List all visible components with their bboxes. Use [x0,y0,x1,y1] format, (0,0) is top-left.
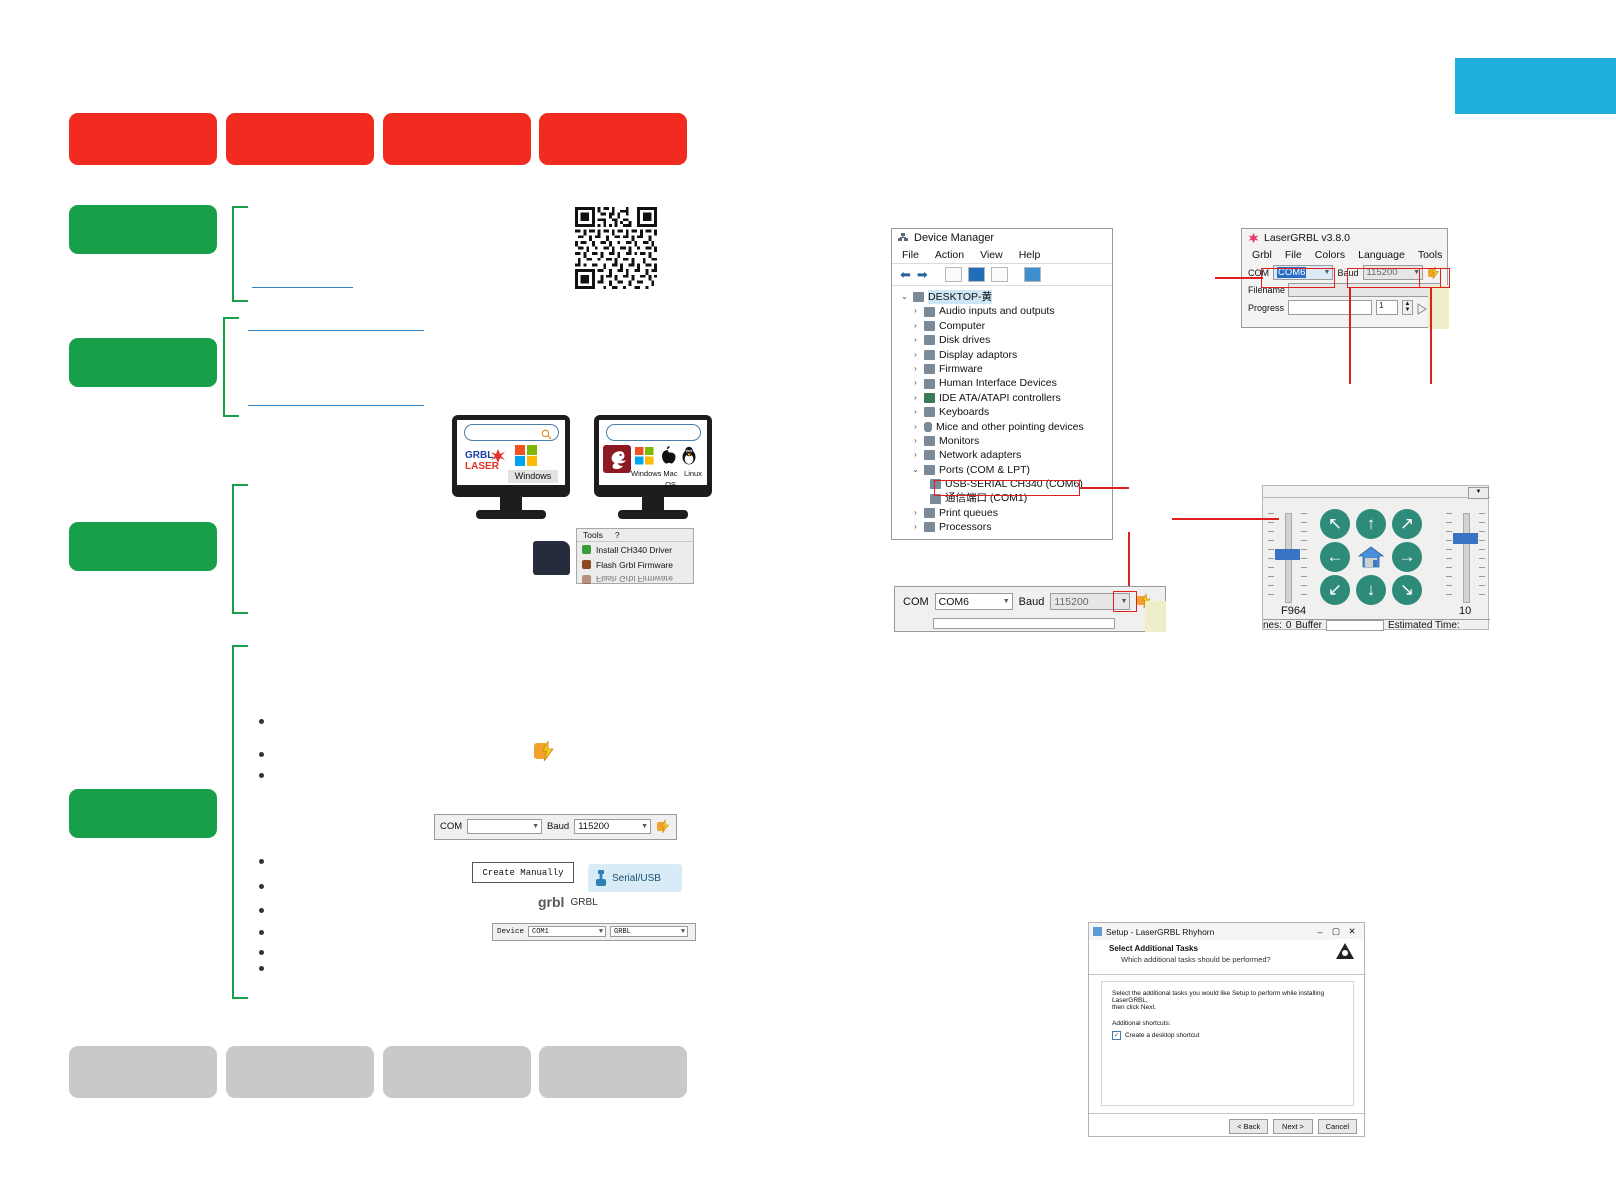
spinner-up-down-icon[interactable]: ▲▼ [1402,300,1413,315]
step-chip-2[interactable] [69,338,217,387]
port-icon [924,465,935,475]
setup-heading: Select Additional Tasks [1109,944,1354,953]
disk-icon [924,335,935,345]
callout-line-ch340-vertical [1128,532,1130,594]
tree-item-label: Keyboards [939,405,989,419]
tree-item-ide-ata[interactable]: › IDE ATA/ATAPI controllers [900,391,1112,405]
chevron-right-icon[interactable]: › [911,434,920,448]
grbl-laser-logo: GRBL LASER [465,447,507,473]
chevron-down-icon: ▼ [599,928,603,936]
processor-icon [924,522,935,532]
callout-line-baud-vertical [1349,288,1351,384]
baud-select-empty[interactable]: 115200 ▼ [574,819,651,834]
bracket-step-2 [223,317,239,417]
tools-menu-item-label: Flash Grbl Firmware [596,575,673,585]
grbl-logo-wordmark: grbl GRBL [538,893,602,911]
setup-body-line-1: Select the additional tasks you would li… [1112,990,1343,1004]
tree-item-label: Monitors [939,434,979,448]
back-button[interactable]: < Back [1229,1119,1268,1134]
highlight-connect-icon [1419,268,1441,288]
connect-plug-icon[interactable] [656,819,671,834]
top-chip-2[interactable] [226,113,374,165]
step-slider-ticks-right [1479,513,1485,601]
tree-item-label: IDE ATA/ATAPI controllers [939,391,1061,405]
chevron-right-icon[interactable]: › [911,391,920,405]
tree-item-firmware[interactable]: › Firmware [900,362,1112,376]
show-hidden-devices-icon[interactable] [1024,267,1041,282]
audio-icon [924,307,935,317]
linux-logo-right [680,446,698,465]
progress-label: Progress [1248,303,1284,313]
setup-icon [1093,927,1102,936]
tree-item-label: Ports (COM & LPT) [939,463,1030,477]
home-icon[interactable] [1356,542,1386,572]
firmware-icon [924,364,935,374]
maximize-button[interactable]: ▢ [1328,926,1344,937]
setup-footer: < Back Next > Cancel [1229,1119,1357,1134]
tree-item-label: Network adapters [939,448,1021,462]
grbl-text-label: GRBL [570,897,597,908]
baud-label: Baud [1019,596,1045,608]
help-icon[interactable] [968,267,985,282]
bracket-step-3 [232,484,248,614]
jog-panel-top-rule [1263,497,1490,498]
chevron-right-icon[interactable]: › [911,420,920,434]
setup-body-panel: Select the additional tasks you would li… [1101,981,1354,1106]
tree-item-label: Audio inputs and outputs [939,304,1055,318]
mouse-icon [924,422,932,432]
setup-wizard-title: Setup - LaserGRBL Rhyhorn [1106,927,1312,937]
bullet-a-1 [259,719,264,724]
display-icon [924,350,935,360]
scan-hardware-icon[interactable] [991,267,1008,282]
setup-divider [1089,974,1366,975]
status-buffer-field [1326,620,1384,631]
bracket-step-1 [232,206,248,302]
link-rule-1[interactable] [252,287,353,288]
status-time-label: Estimated Time: [1388,620,1460,631]
callout-line-com [1215,277,1263,279]
protocol-value: GRBL [614,928,631,936]
menu-language[interactable]: Language [1358,249,1405,261]
tree-item-processors[interactable]: › Processors [900,520,1112,534]
tree-item-label: Display adaptors [939,348,1017,362]
top-chip-1[interactable] [69,113,217,165]
jog-panel: ▼ ↖ ↑ ↗ ← → ↙ ↓ ↘ F964 10 nes: 0 Buffer … [1262,485,1489,630]
connect-lightning-icon [533,739,557,763]
flash-firmware-icon-mirror [582,575,591,584]
device-manager-titlebar: Device Manager [892,229,1112,247]
chevron-down-icon: ▼ [641,823,648,830]
chevron-right-icon[interactable]: › [911,319,920,333]
lasergrbl-com-bar-empty: COM ▼ Baud 115200 ▼ [434,814,677,840]
progress-bar [1288,300,1372,315]
device-label: Device [497,928,524,936]
highlight-disconnect-icon [1113,591,1137,612]
setup-section-label: Additional shortcuts: [1112,1020,1343,1027]
grbl-logo-label: grbl [538,894,564,910]
menu-view[interactable]: View [980,249,1003,261]
status-lines-value: 0 [1286,620,1292,631]
usb-icon [595,870,607,886]
scroll-up-arrow-icon[interactable]: ▼ [1468,487,1489,499]
os-label-linux-right: Linux [682,468,704,479]
device-tree: ⌄ DESKTOP-黄 › Audio inputs and outputs ›… [892,286,1112,535]
windows-logo-left [515,445,538,467]
status-bar: nes: 0 Buffer Estimated Time: [1263,620,1490,631]
progress-spinner-value[interactable]: 1 [1376,300,1398,315]
jog-button-grid: ↖ ↑ ↗ ← → ↙ ↓ ↘ [1320,509,1430,609]
tree-item-label: Processors [939,520,992,534]
tools-menu-item-flash-grbl-mirror[interactable]: Flash Grbl Firmware [577,572,693,587]
menu-action[interactable]: Action [935,249,964,261]
device-manager-icon [898,233,909,244]
tree-item-label: Computer [939,319,985,333]
tree-item-network-adapters[interactable]: › Network adapters [900,448,1112,462]
bullet-b-2 [259,884,264,889]
jog-left-button[interactable]: ← [1320,542,1350,572]
status-lines-label: nes: [1263,620,1282,631]
monitor-base-left [476,510,546,519]
jog-right-button[interactable]: → [1392,542,1422,572]
bottom-chip-2[interactable] [226,1046,374,1098]
menu-grbl[interactable]: Grbl [1252,249,1272,261]
chevron-down-icon[interactable]: ⌄ [911,463,920,477]
chevron-right-icon[interactable]: › [911,405,920,419]
top-chip-4[interactable] [539,113,687,165]
step-slider-thumb[interactable] [1453,533,1478,544]
jog-up-right-button[interactable]: ↗ [1392,509,1422,539]
tree-item-ports[interactable]: ⌄ Ports (COM & LPT) [900,463,1112,477]
bullet-a-2 [259,752,264,757]
menu-file[interactable]: File [1285,249,1302,261]
bottom-chip-4[interactable] [539,1046,687,1098]
jog-up-left-button[interactable]: ↖ [1320,509,1350,539]
bullet-b-6 [259,966,264,971]
bullet-b-4 [259,930,264,935]
computer-icon [913,292,924,302]
filename-field-connected[interactable] [933,618,1115,629]
device-manager-toolbar: ⬅ ➡ [892,263,1112,286]
apple-logo-right [659,446,676,465]
power-slider-thumb[interactable] [1275,549,1300,560]
com-value: COM6 [939,596,969,608]
baud-value: 115200 [1054,596,1088,608]
lasergrbl-title: LaserGRBL v3.8.0 [1264,232,1350,244]
tools-menu-item-label: Install CH340 Driver [596,545,672,555]
feed-rate-label: F964 [1281,605,1306,617]
tree-item-audio[interactable]: › Audio inputs and outputs [900,304,1112,318]
highlight-com-select [1261,268,1335,288]
os-label-windows-left: Windows [508,470,558,483]
chevron-right-icon[interactable]: › [911,506,920,520]
top-chip-3[interactable] [383,113,531,165]
bullet-b-3 [259,908,264,913]
tree-item-mice[interactable]: › Mice and other pointing devices [900,420,1112,434]
tools-menu: Tools ? Install CH340 Driver Flash Grbl … [576,528,694,584]
step-size-label: 10 [1459,605,1471,617]
windows-logo-right [635,447,654,465]
setup-body-line-2: then click Next. [1112,1004,1343,1011]
monitor-lightburn: Windows Mac OS Linux [594,415,712,520]
jog-down-right-button[interactable]: ↘ [1392,575,1422,605]
chevron-down-icon: ▼ [681,928,685,936]
status-buffer-label: Buffer [1295,620,1322,631]
tree-item-computer[interactable]: › Computer [900,319,1112,333]
sd-card-icon [533,541,570,575]
close-button[interactable]: ✕ [1344,926,1360,937]
run-button-icon[interactable] [1417,302,1427,314]
tree-root-label: DESKTOP-黄 [928,290,992,304]
chevron-right-icon[interactable]: › [911,304,920,318]
menu-file[interactable]: File [902,249,919,261]
step-chip-4[interactable] [69,789,217,838]
section-tab [1455,58,1616,114]
bottom-chip-1[interactable] [69,1046,217,1098]
baud-value: 115200 [578,821,609,832]
tree-item-keyboards[interactable]: › Keyboards [900,405,1112,419]
callout-line-jog [1172,518,1279,520]
tree-item-display-adaptors[interactable]: › Display adaptors [900,348,1112,362]
tools-menu-item-install-ch340[interactable]: Install CH340 Driver [577,542,693,557]
ide-controller-icon [924,393,935,403]
chevron-right-icon[interactable]: › [911,520,920,534]
com-label: COM [440,821,462,832]
tree-root[interactable]: ⌄ DESKTOP-黄 [900,290,1112,304]
chevron-down-icon: ▼ [1003,598,1010,605]
callout-line-connect-vertical [1430,288,1432,384]
qr-code [575,207,657,289]
back-arrow-icon[interactable]: ⬅ [900,270,911,280]
create-manually-button[interactable]: Create Manually [472,862,574,883]
bullet-a-3 [259,773,264,778]
device-manager-title: Device Manager [914,232,994,244]
step-slider-track[interactable] [1463,513,1470,603]
next-button[interactable]: Next > [1273,1119,1312,1134]
menu-colors[interactable]: Colors [1315,249,1345,261]
step-chip-1[interactable] [69,205,217,254]
menu-help[interactable]: Help [1019,249,1041,261]
os-label-macos-right: Mac OS [658,468,683,479]
protocol-select[interactable]: GRBL ▼ [610,926,688,937]
svg-text:LASER: LASER [465,461,500,472]
tree-item-label: Human Interface Devices [939,376,1057,390]
jog-down-left-button[interactable]: ↙ [1320,575,1350,605]
bottom-chip-3[interactable] [383,1046,531,1098]
create-desktop-shortcut-row[interactable]: ✓ Create a desktop shortcut [1112,1031,1343,1040]
os-label-windows-right: Windows [631,468,659,479]
setup-wizard-titlebar: Setup - LaserGRBL Rhyhorn – ▢ ✕ [1089,923,1364,940]
network-icon [924,450,935,460]
bullet-b-1 [259,859,264,864]
chevron-right-icon[interactable]: › [911,333,920,347]
setup-subheading: Which additional tasks should be perform… [1109,955,1354,964]
monitor-lasergrbl: GRBL LASER Windows [452,415,570,520]
tree-item-monitors[interactable]: › Monitors [900,434,1112,448]
hid-icon [924,379,935,389]
lightburn-device-row: Device COM1 ▼ GRBL ▼ [492,923,696,941]
create-desktop-shortcut-label: Create a desktop shortcut [1125,1032,1199,1039]
tools-menu-title[interactable]: Tools [583,530,603,540]
link-rule-3[interactable] [248,405,424,406]
bracket-step-4 [232,645,248,999]
baud-label: Baud [547,821,569,832]
power-slider-ticks-right [1301,513,1307,601]
keyboard-icon [924,407,935,417]
monitor-stand-left [500,497,522,511]
tree-item-label: Print queues [939,506,998,520]
cancel-button[interactable]: Cancel [1318,1119,1357,1134]
create-manually-label: Create Manually [482,868,563,878]
monitor-icon [924,436,935,446]
chevron-right-icon[interactable]: › [911,376,920,390]
com-label: COM [903,596,929,608]
tools-menu-item-flash-grbl[interactable]: Flash Grbl Firmware [577,557,693,572]
jog-up-button[interactable]: ↑ [1356,509,1386,539]
chevron-right-icon[interactable]: › [911,348,920,362]
bullet-b-5 [259,950,264,955]
ch340-driver-icon [582,545,591,554]
step-chip-3[interactable] [69,522,217,571]
search-bar-right[interactable] [606,424,701,441]
jog-down-button[interactable]: ↓ [1356,575,1386,605]
computer-icon [924,321,935,331]
printer-icon [924,508,935,518]
device-select[interactable]: COM1 ▼ [528,926,606,937]
setup-banner-icon [1332,939,1358,965]
callout-line-ch340-horizontal [1081,487,1129,489]
forward-arrow-icon[interactable]: ➡ [917,270,928,280]
setup-footer-divider [1089,1113,1366,1114]
connected-bar-strip [1145,601,1166,632]
device-value: COM1 [532,928,549,936]
chevron-right-icon[interactable]: › [911,362,920,376]
com-select-empty[interactable]: ▼ [467,819,542,834]
monitor-base-right [618,510,688,519]
lasergrbl-titlebar: LaserGRBL v3.8.0 [1242,229,1447,247]
com-select-connected[interactable]: COM6 ▼ [935,593,1013,610]
link-rule-2[interactable] [248,330,424,331]
tree-item-print-queues[interactable]: › Print queues [900,506,1112,520]
chevron-down-icon[interactable]: ⌄ [900,290,909,304]
minimize-button[interactable]: – [1312,927,1328,937]
svg-text:GRBL: GRBL [465,450,493,461]
properties-icon[interactable] [945,267,962,282]
tree-item-label: Mice and other pointing devices [936,420,1084,434]
tools-menu-item-label: Flash Grbl Firmware [596,560,673,570]
step-slider-ticks-left [1446,513,1452,601]
tools-menu-help[interactable]: ? [615,530,620,540]
power-slider-ticks-left [1268,513,1274,601]
menu-tools[interactable]: Tools [1418,249,1443,261]
monitor-stand-right [642,497,664,511]
tree-item-disk-drives[interactable]: › Disk drives [900,333,1112,347]
chevron-down-icon: ▼ [532,823,539,830]
serial-usb-label: Serial/USB [612,873,661,884]
tree-item-label: Disk drives [939,333,990,347]
setup-wizard-window: Setup - LaserGRBL Rhyhorn – ▢ ✕ Select A… [1088,922,1365,1137]
tree-item-label: Firmware [939,362,983,376]
chevron-right-icon[interactable]: › [911,448,920,462]
highlight-usb-serial-ch340 [934,480,1080,496]
lightburn-dragon-logo [603,445,631,473]
checkbox-checked-icon[interactable]: ✓ [1112,1031,1121,1040]
lasergrbl-logo-icon [1248,233,1259,244]
search-icon [541,427,552,438]
lasergrbl-menubar: Grbl File Colors Language Tools [1242,247,1447,263]
tree-item-hid[interactable]: › Human Interface Devices [900,376,1112,390]
serial-usb-button[interactable]: Serial/USB [588,864,682,892]
device-manager-menubar: File Action View Help [892,247,1112,263]
flash-firmware-icon [582,560,591,569]
